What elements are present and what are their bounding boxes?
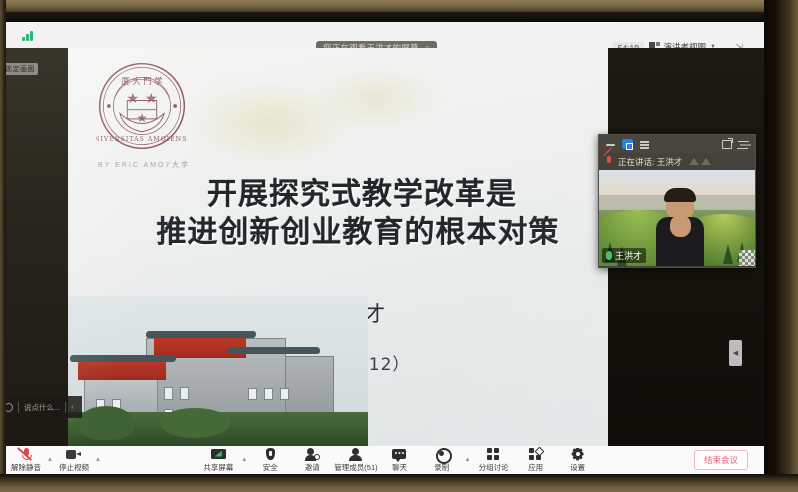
toolbar-item-participants[interactable]: 管理成员(51) [334, 446, 377, 474]
display-bezel-right [764, 0, 798, 492]
left-rail [0, 48, 68, 446]
toolbar-item-breakout-rooms[interactable]: 分组讨论 [474, 446, 514, 474]
presentation-slide: 厦 大 門 学 UNIVERSITAS AMOIENSIS [68, 48, 608, 446]
chevron-up-icon[interactable]: ▲ [47, 457, 53, 463]
participant-video-feed[interactable]: 王洪才 [599, 170, 755, 266]
shield-icon [263, 448, 278, 461]
speaking-status-bar: 正在讲话: 王洪才 [599, 153, 755, 170]
apps-icon [528, 448, 543, 461]
toolbar-item-unmute[interactable]: 解除静音 [6, 446, 46, 474]
toolbar-item-security[interactable]: 安全 [250, 446, 290, 474]
toolbar-center-group: 共享屏幕 ▲ 安全 邀请 管理成员(51) 聊天 [198, 446, 597, 474]
svg-text:UNIVERSITAS AMOIENSIS: UNIVERSITAS AMOIENSIS [96, 136, 188, 143]
meeting-toolbar: 解除静音 ▲ 停止视频 ▲ 共享屏幕 ▲ 安全 [0, 446, 764, 474]
meeting-window: 您正在观看王洪才的屏幕 ≡ 54:19 演讲者视图 ▼ ⇲ 锁定画面 [0, 22, 764, 474]
layout-icon[interactable] [738, 140, 749, 149]
participant-name-label: 王洪才 [615, 249, 642, 262]
chevron-left-icon[interactable]: ‹ [71, 404, 73, 411]
toolbar-item-chat[interactable]: 聊天 [380, 446, 420, 474]
popout-icon[interactable] [722, 140, 732, 149]
record-icon [434, 448, 449, 461]
participants-icon [348, 448, 363, 461]
display-bezel-bottom [0, 474, 798, 492]
video-corner-artifact [739, 250, 755, 266]
chevron-up-icon[interactable]: ▲ [465, 457, 471, 463]
lock-screen-chip[interactable]: 锁定画面 [2, 63, 38, 75]
toolbar-item-record[interactable]: 录制 [422, 446, 462, 474]
slide-title-line2: 推进创新创业教育的根本对策 [74, 214, 608, 252]
gear-icon [570, 448, 585, 461]
xiamen-university-campus-photo [68, 296, 368, 446]
toolbar-item-stop-video[interactable]: 停止视频 [54, 446, 94, 474]
slide-byline: BY ERIC AMOY大学 [98, 160, 190, 170]
breakout-rooms-icon [486, 448, 501, 461]
chevron-left-icon: ◀ [733, 349, 738, 357]
toolbar-label: 安全 [263, 462, 278, 473]
side-panel-collapse-button[interactable]: ◀ [729, 340, 742, 366]
toolbar-label: 管理成员(51) [334, 462, 377, 473]
toolbar-label: 聊天 [392, 462, 407, 473]
participant-name-badge: 王洪才 [602, 248, 646, 263]
toolbar-item-settings[interactable]: 设置 [558, 446, 598, 474]
chat-input-placeholder[interactable]: 说点什么... [24, 402, 60, 413]
svg-text:厦 大 門 学: 厦 大 門 学 [122, 76, 163, 86]
display-bezel-left [0, 0, 6, 492]
toolbar-label: 设置 [570, 462, 585, 473]
toolbar-label: 分组讨论 [479, 462, 509, 473]
chat-icon [392, 448, 407, 461]
toolbar-label: 停止视频 [59, 462, 89, 473]
participant-person [654, 191, 706, 266]
maximize-icon[interactable] [622, 139, 633, 149]
speaking-label: 正在讲话: 王洪才 [618, 156, 682, 168]
invite-icon [305, 448, 320, 461]
chevron-up-icon[interactable]: ▲ [241, 457, 247, 463]
list-view-icon[interactable] [639, 139, 650, 149]
slide-title: 开展探究式教学改革是 推进创新创业教育的根本对策 [82, 176, 608, 252]
share-screen-icon [211, 448, 226, 461]
toolbar-label: 解除静音 [11, 462, 41, 473]
mic-muted-icon [19, 448, 34, 461]
video-panel-titlebar [599, 135, 755, 153]
shared-screen-area: 锁定画面 厦 大 門 学 [0, 48, 764, 446]
mic-on-icon [606, 251, 612, 260]
quick-chat-bar[interactable]: 说点什么... ‹ [0, 396, 82, 418]
toolbar-label: 共享屏幕 [203, 462, 233, 473]
mic-muted-icon [605, 156, 613, 167]
toolbar-label: 应用 [528, 462, 543, 473]
end-meeting-button[interactable]: 结束会议 [694, 450, 748, 470]
signal-strength-icon [22, 30, 33, 41]
toolbar-label: 邀请 [305, 462, 320, 473]
screenshot-root: 您正在观看王洪才的屏幕 ≡ 54:19 演讲者视图 ▼ ⇲ 锁定画面 [0, 0, 798, 492]
camera-icon [66, 448, 81, 461]
toolbar-item-apps[interactable]: 应用 [516, 446, 556, 474]
active-speaker-video-panel[interactable]: 正在讲话: 王洪才 [598, 134, 756, 268]
volume-meter-icon [689, 158, 711, 165]
slide-title-line1: 开展探究式教学改革是 [207, 177, 517, 212]
toolbar-item-share-screen[interactable]: 共享屏幕 [198, 446, 238, 474]
toolbar-left-group: 解除静音 ▲ 停止视频 ▲ [0, 446, 102, 474]
chevron-up-icon[interactable]: ▲ [95, 457, 101, 463]
xiamen-university-seal-icon: 厦 大 門 学 UNIVERSITAS AMOIENSIS [96, 60, 188, 152]
toolbar-item-invite[interactable]: 邀请 [292, 446, 332, 474]
screen-glare [120, 24, 640, 40]
